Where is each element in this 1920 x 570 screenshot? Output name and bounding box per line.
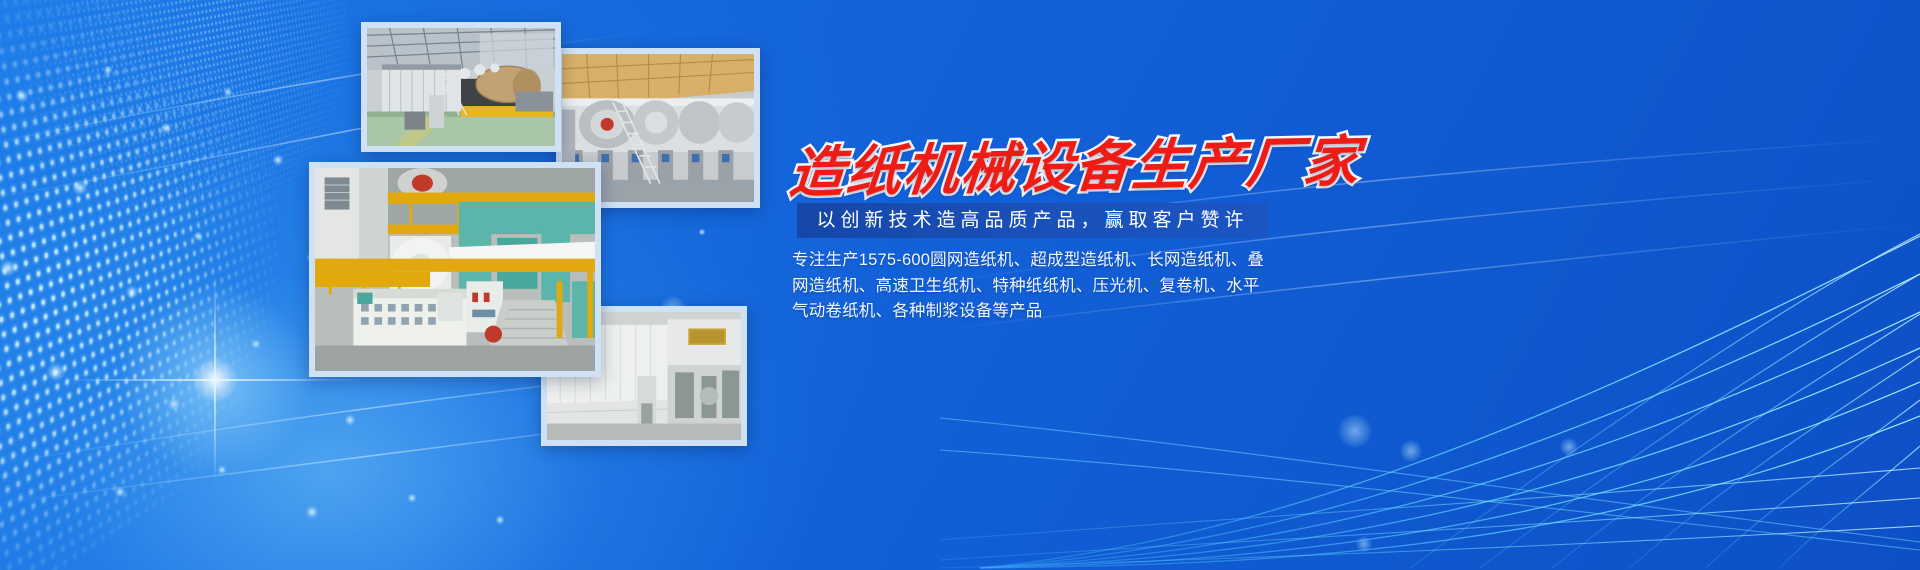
photo-inner [367, 28, 555, 146]
banner-headline: 造纸机械设备生产厂家 [790, 133, 1290, 205]
bokeh-dot-1 [1338, 414, 1372, 448]
banner-headline-text: 造纸机械设备生产厂家 [786, 127, 1363, 209]
banner-subtitle-bar: 以创新技术造高品质产品，赢取客户赞许 [797, 203, 1268, 238]
workshop-overview-illustration [367, 28, 555, 146]
promo-banner: 造纸机械设备生产厂家 以创新技术造高品质产品，赢取客户赞许 专注生产1575-6… [0, 0, 1920, 570]
bokeh-dot-3 [1560, 438, 1578, 456]
photo-inner [315, 168, 595, 371]
banner-description: 专注生产1575-600圆网造纸机、超成型造纸机、长网造纸机、叠网造纸机、高速卫… [792, 248, 1272, 325]
bokeh-dot-2 [1400, 440, 1422, 462]
photo-paper-machine-control-console [309, 162, 601, 377]
photo-paper-machine-workshop-overview [361, 22, 561, 152]
banner-subtitle-text: 以创新技术造高品质产品，赢取客户赞许 [797, 203, 1268, 238]
control-console-illustration [315, 168, 595, 371]
bokeh-dot-5 [1356, 536, 1372, 552]
